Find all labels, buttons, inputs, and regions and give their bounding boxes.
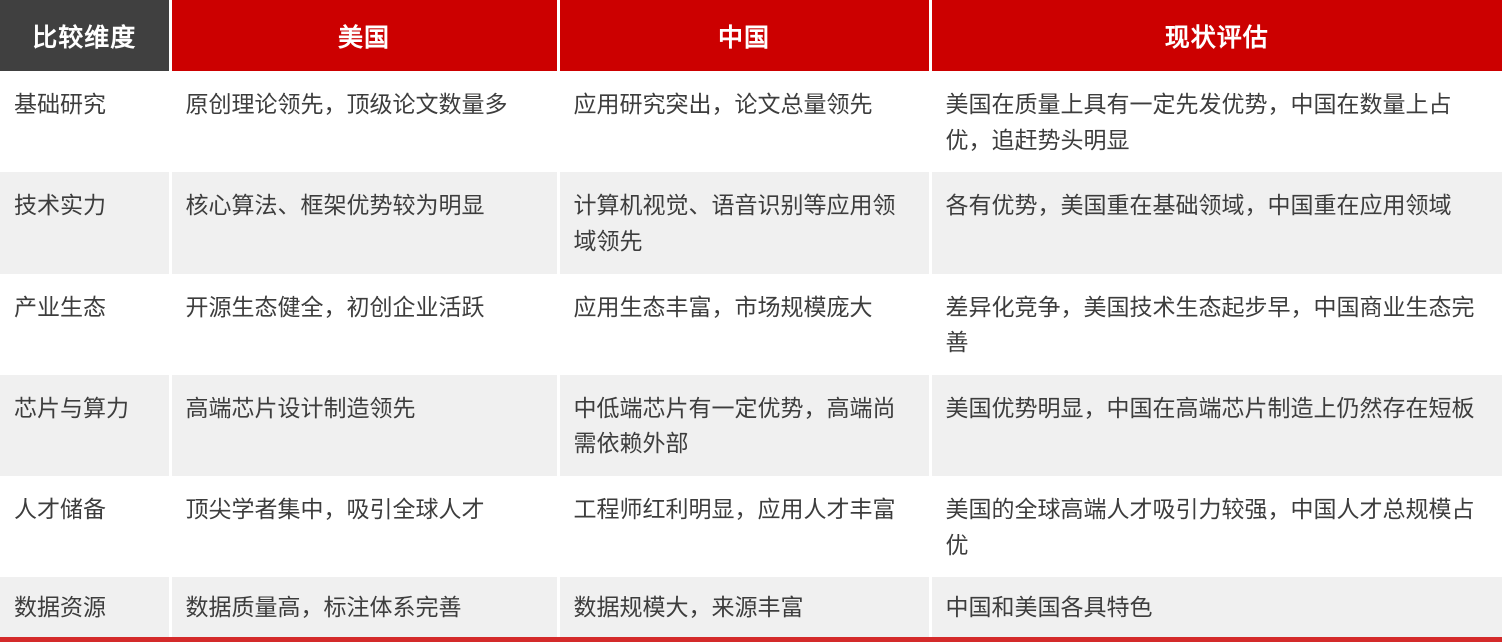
cell-dimension: 基础研究 xyxy=(0,71,170,172)
cell-assessment: 差异化竞争，美国技术生态起步早，中国商业生态完善 xyxy=(930,274,1502,375)
cell-china: 中低端芯片有一定优势，高端尚需依赖外部 xyxy=(558,375,930,476)
table-body: 基础研究 原创理论领先，顶级论文数量多 应用研究突出，论文总量领先 美国在质量上… xyxy=(0,71,1502,639)
cell-dimension: 技术实力 xyxy=(0,172,170,273)
cell-assessment: 中国和美国各具特色 xyxy=(930,577,1502,639)
cell-china: 应用生态丰富，市场规模庞大 xyxy=(558,274,930,375)
table-row: 基础研究 原创理论领先，顶级论文数量多 应用研究突出，论文总量领先 美国在质量上… xyxy=(0,71,1502,172)
cell-usa: 高端芯片设计制造领先 xyxy=(170,375,558,476)
table-row: 技术实力 核心算法、框架优势较为明显 计算机视觉、语音识别等应用领域领先 各有优… xyxy=(0,172,1502,273)
cell-usa: 顶尖学者集中，吸引全球人才 xyxy=(170,476,558,577)
cell-dimension: 数据资源 xyxy=(0,577,170,639)
cell-china: 工程师红利明显，应用人才丰富 xyxy=(558,476,930,577)
column-header-china: 中国 xyxy=(558,0,930,71)
table-header: 比较维度 美国 中国 现状评估 xyxy=(0,0,1502,71)
cell-china: 数据规模大，来源丰富 xyxy=(558,577,930,639)
cell-dimension: 产业生态 xyxy=(0,274,170,375)
cell-assessment: 各有优势，美国重在基础领域，中国重在应用领域 xyxy=(930,172,1502,273)
cell-dimension: 人才储备 xyxy=(0,476,170,577)
column-header-usa: 美国 xyxy=(170,0,558,71)
ai-comparison-table: 比较维度 美国 中国 现状评估 基础研究 原创理论领先，顶级论文数量多 应用研究… xyxy=(0,0,1502,642)
column-header-dimension: 比较维度 xyxy=(0,0,170,71)
cell-china: 应用研究突出，论文总量领先 xyxy=(558,71,930,172)
cell-assessment: 美国的全球高端人才吸引力较强，中国人才总规模占优 xyxy=(930,476,1502,577)
cell-china: 计算机视觉、语音识别等应用领域领先 xyxy=(558,172,930,273)
cell-assessment: 美国在质量上具有一定先发优势，中国在数量上占优，追赶势头明显 xyxy=(930,71,1502,172)
cell-dimension: 芯片与算力 xyxy=(0,375,170,476)
table-header-row: 比较维度 美国 中国 现状评估 xyxy=(0,0,1502,71)
table-row: 产业生态 开源生态健全，初创企业活跃 应用生态丰富，市场规模庞大 差异化竞争，美… xyxy=(0,274,1502,375)
cell-assessment: 美国优势明显，中国在高端芯片制造上仍然存在短板 xyxy=(930,375,1502,476)
cell-usa: 开源生态健全，初创企业活跃 xyxy=(170,274,558,375)
table-row: 人才储备 顶尖学者集中，吸引全球人才 工程师红利明显，应用人才丰富 美国的全球高… xyxy=(0,476,1502,577)
cell-usa: 原创理论领先，顶级论文数量多 xyxy=(170,71,558,172)
cell-usa: 核心算法、框架优势较为明显 xyxy=(170,172,558,273)
table-row: 数据资源 数据质量高，标注体系完善 数据规模大，来源丰富 中国和美国各具特色 xyxy=(0,577,1502,639)
table-row: 芯片与算力 高端芯片设计制造领先 中低端芯片有一定优势，高端尚需依赖外部 美国优… xyxy=(0,375,1502,476)
column-header-assessment: 现状评估 xyxy=(930,0,1502,71)
cell-usa: 数据质量高，标注体系完善 xyxy=(170,577,558,639)
